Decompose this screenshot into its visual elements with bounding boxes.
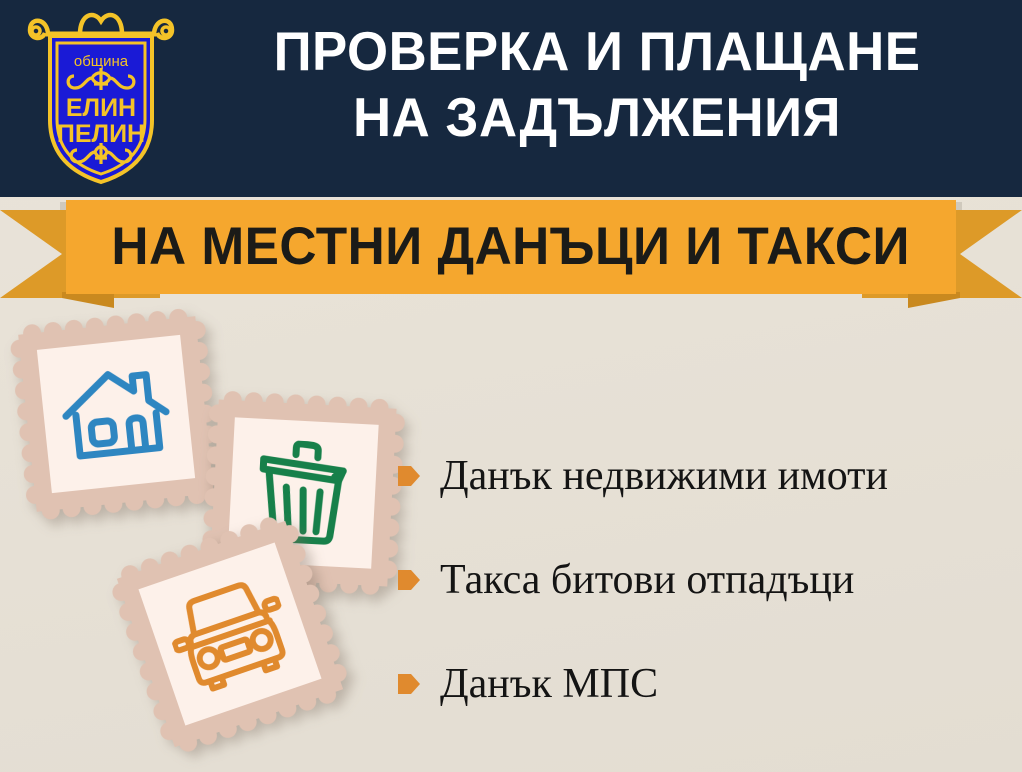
car-icon bbox=[159, 568, 301, 700]
list-item-label: Данък недвижими имоти bbox=[440, 453, 888, 499]
subtitle-ribbon: НА МЕСТНИ ДАНЪЦИ И ТАКСИ bbox=[0, 196, 1022, 308]
municipality-logo: община ЕЛИН ПЕЛИН bbox=[22, 8, 180, 190]
ribbon-banner: НА МЕСТНИ ДАНЪЦИ И ТАКСИ bbox=[66, 200, 956, 294]
house-icon-wrap bbox=[37, 335, 195, 493]
list-item-label: Данък МПС bbox=[440, 661, 658, 707]
arrow-bullet-icon bbox=[398, 464, 420, 488]
logo-top-word: община bbox=[74, 53, 129, 70]
house-icon bbox=[57, 359, 175, 470]
ribbon-fold-left bbox=[62, 292, 114, 308]
arrow-bullet-icon bbox=[398, 672, 420, 696]
arrow-bullet-icon bbox=[398, 568, 420, 592]
header-bar: община ЕЛИН ПЕЛИН ПРОВЕРКА И ПЛАЩАНЕ НА … bbox=[0, 0, 1022, 197]
page-title: ПРОВЕРКА И ПЛАЩАНЕ НА ЗАДЪЛЖЕНИЯ bbox=[182, 18, 1012, 150]
list-item[interactable]: Данък недвижими имоти bbox=[398, 424, 1008, 528]
ribbon-fold-right bbox=[908, 292, 960, 308]
elin-pelin-coat-of-arms: община ЕЛИН ПЕЛИН bbox=[22, 8, 180, 190]
list-item-label: Такса битови отпадъци bbox=[440, 557, 854, 603]
list-item[interactable]: Данък МПС bbox=[398, 632, 1008, 736]
title-line-2: НА ЗАДЪЛЖЕНИЯ bbox=[199, 84, 996, 150]
stamp-property-tax bbox=[8, 306, 223, 521]
obligations-list: Данък недвижими имоти Такса битови отпад… bbox=[398, 424, 1008, 736]
poster-root: община ЕЛИН ПЕЛИН ПРОВЕРКА И ПЛАЩАНЕ НА … bbox=[0, 0, 1022, 772]
ribbon-text: НА МЕСТНИ ДАНЪЦИ И ТАКСИ bbox=[112, 219, 911, 275]
logo-name-line2: ПЕЛИН bbox=[57, 120, 145, 148]
title-line-1: ПРОВЕРКА И ПЛАЩАНЕ bbox=[199, 18, 996, 84]
list-item[interactable]: Такса битови отпадъци bbox=[398, 528, 1008, 632]
logo-name-line1: ЕЛИН bbox=[66, 94, 136, 122]
